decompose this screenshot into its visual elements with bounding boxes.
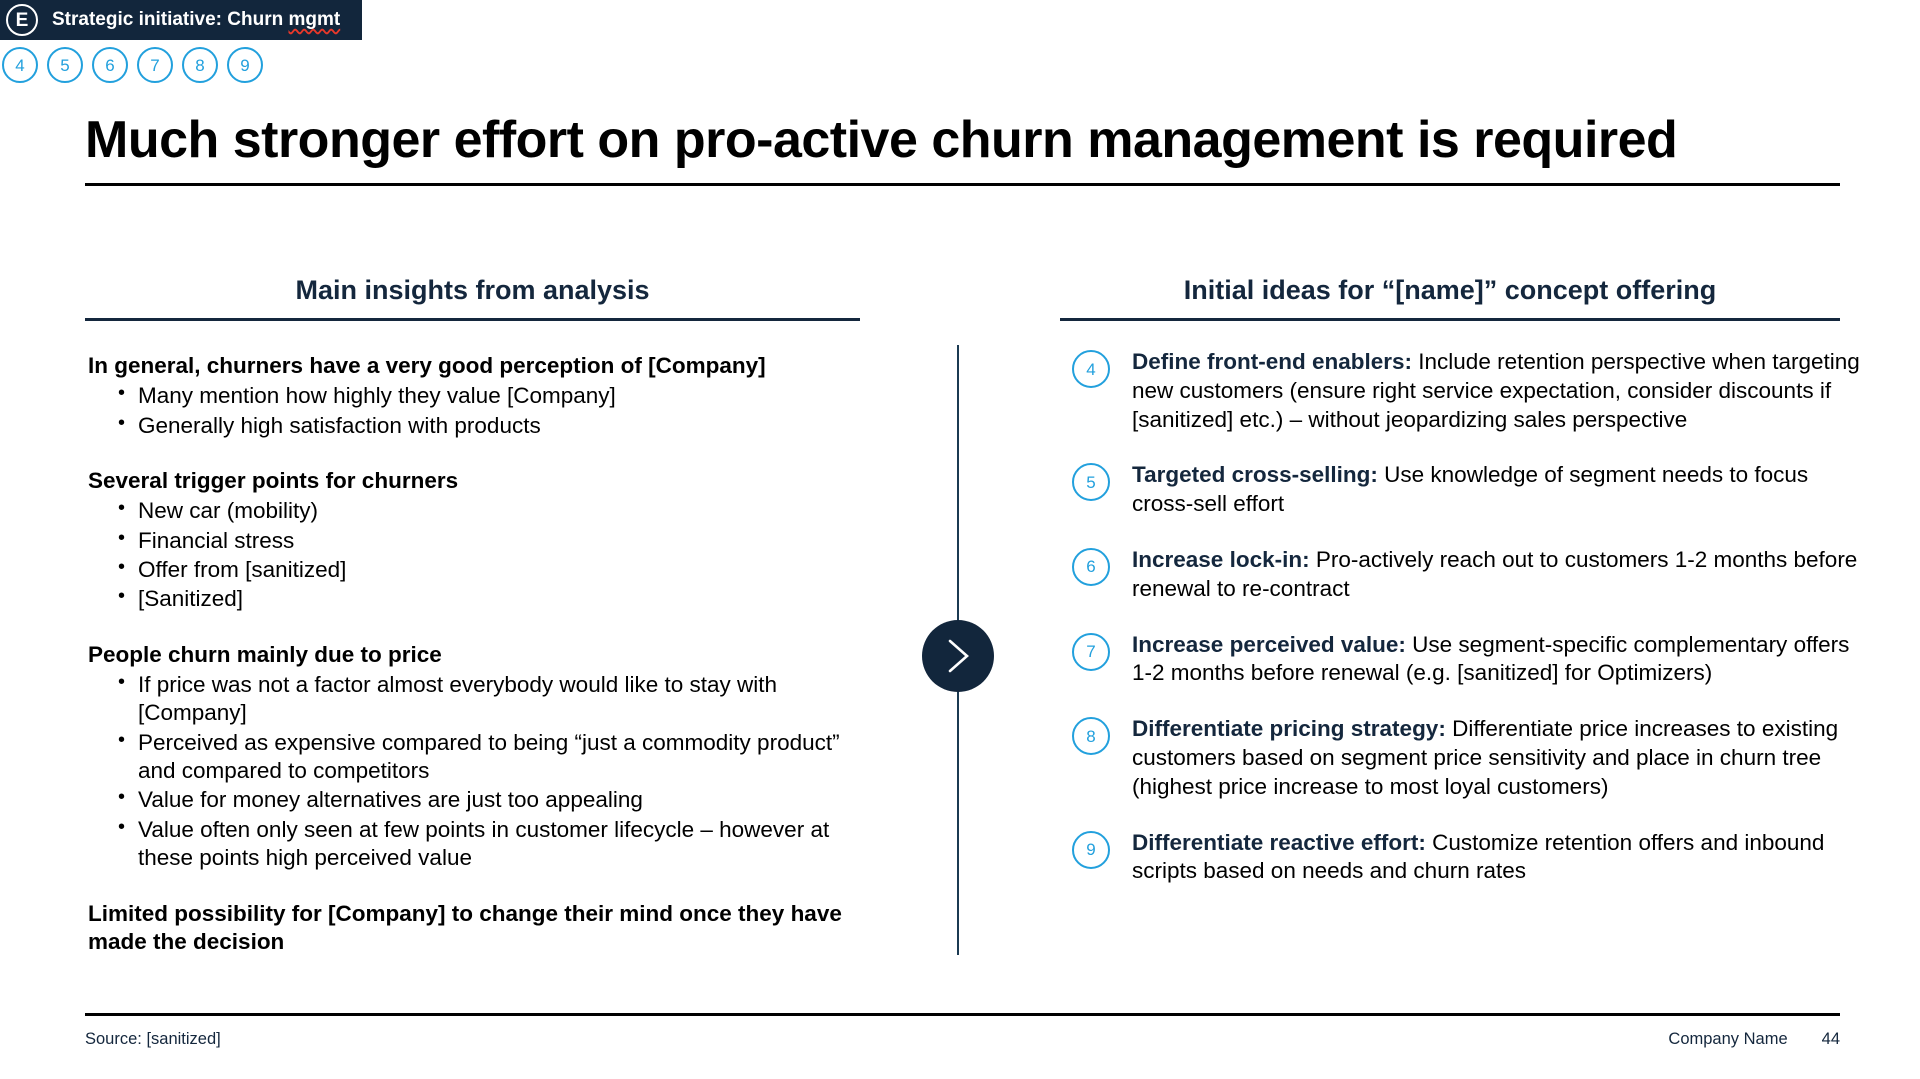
idea-text: Increase lock-in: Pro-actively reach out… xyxy=(1132,546,1860,604)
page-number: 44 xyxy=(1822,1030,1840,1049)
list-item: Financial stress xyxy=(92,527,848,555)
idea-lead-label: Targeted cross-selling: xyxy=(1132,462,1378,487)
list-item: [Sanitized] xyxy=(92,585,848,613)
insight-block-heading: In general, churners have a very good pe… xyxy=(88,352,848,380)
insight-block-heading: People churn mainly due to price xyxy=(88,641,848,669)
step-circle-7[interactable]: 7 xyxy=(137,47,173,83)
idea-item-5: 5 Targeted cross-selling: Use knowledge … xyxy=(1060,461,1860,519)
idea-number-badge-5: 5 xyxy=(1072,463,1110,501)
idea-text: Increase perceived value: Use segment-sp… xyxy=(1132,631,1860,689)
initial-ideas-list: 4 Define front-end enablers: Include ret… xyxy=(1060,348,1860,913)
list-item: Offer from [sanitized] xyxy=(92,556,848,584)
idea-lead-label: Differentiate pricing strategy: xyxy=(1132,716,1446,741)
list-item: Perceived as expensive compared to being… xyxy=(92,729,848,786)
step-circle-5[interactable]: 5 xyxy=(47,47,83,83)
idea-number-badge-4: 4 xyxy=(1072,350,1110,388)
badge-title-main: Strategic initiative: Churn xyxy=(52,9,288,30)
idea-lead-label: Increase perceived value: xyxy=(1132,632,1406,657)
idea-item-9: 9 Differentiate reactive effort: Customi… xyxy=(1060,829,1860,887)
left-column-heading: Main insights from analysis xyxy=(85,275,860,306)
insight-block: People churn mainly due to price If pric… xyxy=(88,641,848,873)
step-circle-9[interactable]: 9 xyxy=(227,47,263,83)
idea-item-7: 7 Increase perceived value: Use segment-… xyxy=(1060,631,1860,689)
slide-title: Much stronger effort on pro-active churn… xyxy=(85,113,1845,168)
list-item: New car (mobility) xyxy=(92,497,848,525)
list-item: Generally high satisfaction with product… xyxy=(92,412,848,440)
list-item: Value often only seen at few points in c… xyxy=(92,816,848,873)
insight-bullet-list: Many mention how highly they value [Comp… xyxy=(92,382,848,440)
title-divider xyxy=(85,183,1840,186)
right-column-heading: Initial ideas for “[name]” concept offer… xyxy=(1060,275,1840,306)
footer-divider xyxy=(85,1013,1840,1016)
idea-number-badge-8: 8 xyxy=(1072,717,1110,755)
spacer xyxy=(88,615,848,641)
idea-item-4: 4 Define front-end enablers: Include ret… xyxy=(1060,348,1860,434)
badge-letter-icon: E xyxy=(6,4,38,36)
idea-text: Targeted cross-selling: Use knowledge of… xyxy=(1132,461,1860,519)
insight-closing-statement: Limited possibility for [Company] to cha… xyxy=(88,900,848,957)
idea-text: Differentiate reactive effort: Customize… xyxy=(1132,829,1860,887)
insight-bullet-list: New car (mobility) Financial stress Offe… xyxy=(92,497,848,613)
idea-lead-label: Differentiate reactive effort: xyxy=(1132,830,1426,855)
step-circle-8[interactable]: 8 xyxy=(182,47,218,83)
badge-title-misspelled-word: mgmt xyxy=(288,9,340,30)
list-item: Value for money alternatives are just to… xyxy=(92,786,848,814)
insight-block-heading: Several trigger points for churners xyxy=(88,467,848,495)
idea-item-8: 8 Differentiate pricing strategy: Differ… xyxy=(1060,715,1860,801)
step-circle-4[interactable]: 4 xyxy=(2,47,38,83)
strategic-initiative-badge: E Strategic initiative: Churn mgmt xyxy=(0,0,362,40)
spacer xyxy=(88,874,848,900)
slide: E Strategic initiative: Churn mgmt 4 5 6… xyxy=(0,0,1920,1079)
footer-meta: Company Name 44 xyxy=(1668,1030,1840,1049)
idea-text: Define front-end enablers: Include reten… xyxy=(1132,348,1860,434)
step-circle-6[interactable]: 6 xyxy=(92,47,128,83)
idea-text: Differentiate pricing strategy: Differen… xyxy=(1132,715,1860,801)
company-name: Company Name xyxy=(1668,1030,1787,1049)
right-column-heading-rule xyxy=(1060,318,1840,321)
insight-block: In general, churners have a very good pe… xyxy=(88,352,848,440)
badge-title: Strategic initiative: Churn mgmt xyxy=(52,9,340,31)
spacer xyxy=(88,441,848,467)
idea-number-badge-6: 6 xyxy=(1072,548,1110,586)
chevron-right-icon xyxy=(922,620,994,692)
list-item: If price was not a factor almost everybo… xyxy=(92,671,848,728)
main-insights-list: In general, churners have a very good pe… xyxy=(88,352,848,956)
idea-lead-label: Increase lock-in: xyxy=(1132,547,1310,572)
list-item: Many mention how highly they value [Comp… xyxy=(92,382,848,410)
idea-number-badge-7: 7 xyxy=(1072,633,1110,671)
source-note: Source: [sanitized] xyxy=(85,1030,221,1049)
step-circle-group: 4 5 6 7 8 9 xyxy=(2,47,263,83)
idea-item-6: 6 Increase lock-in: Pro-actively reach o… xyxy=(1060,546,1860,604)
idea-number-badge-9: 9 xyxy=(1072,831,1110,869)
left-column-heading-rule xyxy=(85,318,860,321)
insight-block: Several trigger points for churners New … xyxy=(88,467,848,614)
idea-lead-label: Define front-end enablers: xyxy=(1132,349,1412,374)
insight-bullet-list: If price was not a factor almost everybo… xyxy=(92,671,848,872)
